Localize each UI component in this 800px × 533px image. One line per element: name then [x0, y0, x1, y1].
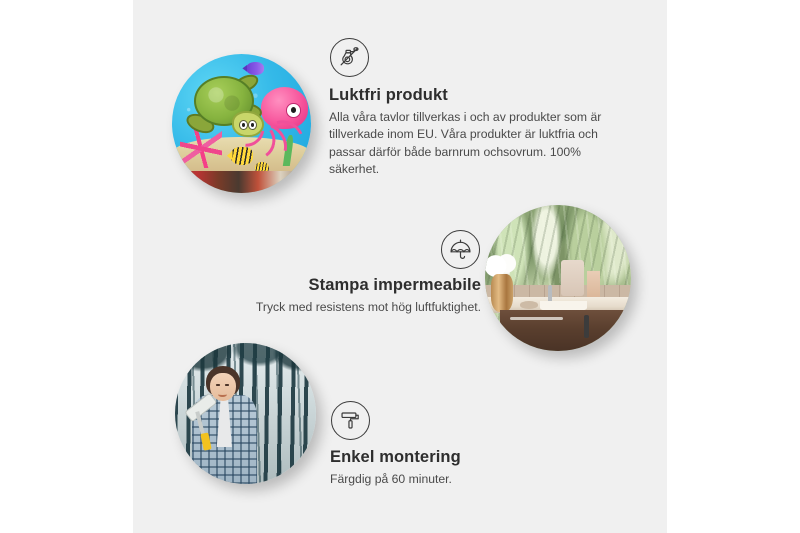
- photo-bubble-bathroom[interactable]: [485, 205, 631, 351]
- content-panel: Luktfri produkt Alla våra tavlor tillver…: [133, 0, 667, 533]
- turtle-eye: [239, 120, 248, 130]
- feature-odourless-description: Alla våra tavlor tillverkas i och av pro…: [329, 109, 629, 178]
- feature-odourless: Luktfri produkt Alla våra tavlor tillver…: [329, 38, 629, 178]
- woman-smile: [218, 391, 227, 396]
- bathroom-mirror: [561, 260, 584, 295]
- yellow-striped-fish: [230, 147, 252, 165]
- forest-canopy: [175, 343, 316, 385]
- forest-photo: [175, 343, 316, 484]
- turtle-eye: [248, 120, 257, 130]
- no-odour-spray-bottle-icon: [330, 38, 369, 77]
- turtle-head: [232, 111, 264, 137]
- woman-face: [210, 373, 235, 401]
- umbrella-icon: [441, 230, 480, 269]
- brass-vase: [491, 274, 513, 312]
- bathroom-photo: [485, 205, 631, 351]
- faucet: [548, 285, 552, 303]
- photo-bubble-forest[interactable]: [175, 343, 316, 484]
- wooden-vanity-cabinet: [500, 310, 631, 351]
- ocean-foreground-strip: [172, 171, 311, 193]
- pink-coral: [180, 129, 222, 168]
- paint-roller-icon: [331, 401, 370, 440]
- feature-waterproof-title: Stampa impermeabile: [213, 276, 481, 295]
- screenshot-root: Luktfri produkt Alla våra tavlor tillver…: [0, 0, 800, 533]
- photo-bubble-ocean[interactable]: [172, 54, 311, 193]
- soap-dish: [520, 301, 538, 308]
- feature-odourless-title: Luktfri produkt: [329, 86, 629, 105]
- octopus-eye: [286, 103, 300, 118]
- ocean-illustration: [172, 54, 311, 193]
- woman-eye: [225, 384, 229, 386]
- woman-eye: [216, 384, 220, 386]
- feature-waterproof-description: Tryck med resistens mot hög luftfuktighe…: [213, 299, 481, 316]
- feature-easy-assembly-title: Enkel montering: [330, 448, 590, 467]
- feature-easy-assembly-description: Färgdig på 60 minuter.: [330, 471, 590, 488]
- feature-waterproof: Stampa impermeabile Tryck med resistens …: [213, 230, 481, 316]
- purple-fish: [246, 62, 264, 75]
- feature-easy-assembly: Enkel montering Färgdig på 60 minuter.: [330, 401, 590, 488]
